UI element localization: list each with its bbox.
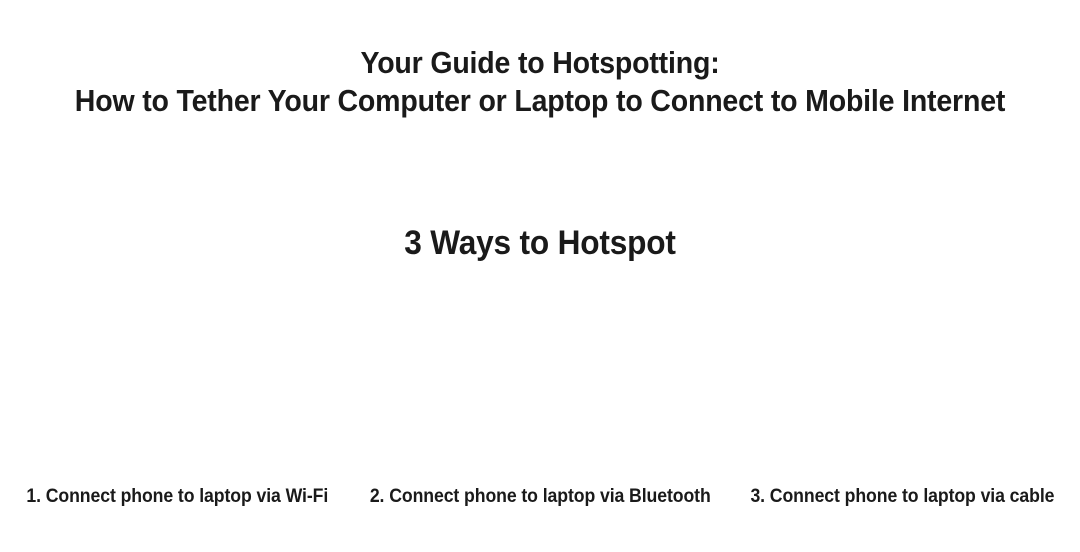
page-title-line-1: Your Guide to Hotspotting: [43,44,1037,82]
page-title-line-2: How to Tether Your Computer or Laptop to… [43,82,1037,120]
section-heading: 3 Ways to Hotspot [0,222,1080,264]
illustration-bluetooth [360,282,720,474]
page-title: Your Guide to Hotspotting: How to Tether… [0,44,1080,120]
illustration-cable [720,282,1080,474]
infographic-page: Your Guide to Hotspotting: How to Tether… [0,0,1080,552]
illustration-wifi [0,282,360,474]
method-caption-bluetooth: 2. Connect phone to laptop via Bluetooth [370,484,711,510]
method-item-1: 1. Connect phone to laptop via Wi-Fi [0,484,355,510]
illustration-row [0,282,1080,474]
method-item-2: 2. Connect phone to laptop via Bluetooth [355,484,726,510]
method-caption-cable: 3. Connect phone to laptop via cable [751,484,1055,510]
section-heading-label: 3 Ways to Hotspot [404,222,675,264]
method-caption-wifi: 1. Connect phone to laptop via Wi-Fi [26,484,328,510]
method-item-3: 3. Connect phone to laptop via cable [725,484,1080,510]
caption-row: 1. Connect phone to laptop via Wi-Fi 2. … [0,484,1080,510]
